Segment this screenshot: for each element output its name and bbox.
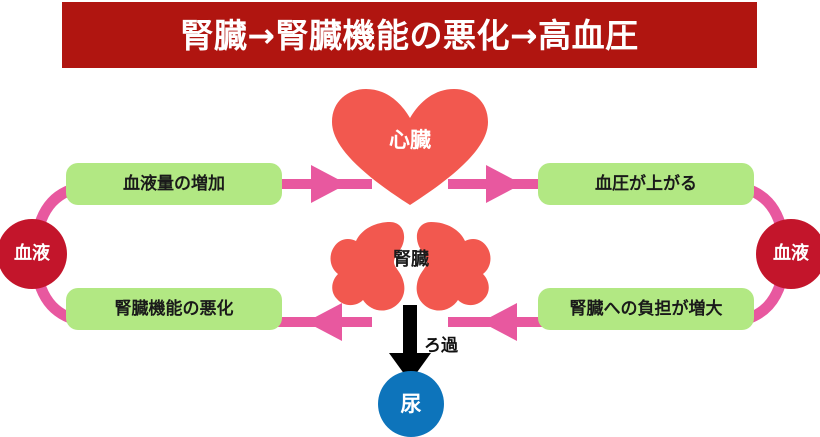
blood-node-right[interactable]: 血液 bbox=[756, 219, 820, 289]
arrowhead-left-bottom-left bbox=[306, 303, 342, 341]
cycle-box-label: 腎臓への負担が増大 bbox=[570, 301, 723, 318]
cycle-box-label: 腎臓機能の悪化 bbox=[115, 301, 234, 318]
cycle-box-blood-volume[interactable]: 血液量の増加 bbox=[66, 163, 282, 205]
urine-node-label: 尿 bbox=[401, 394, 422, 415]
blood-node-label: 血液 bbox=[773, 245, 809, 263]
kidney-icon bbox=[331, 222, 491, 311]
filtration-label: ろ過 bbox=[424, 338, 458, 355]
arrowhead-right-top-right bbox=[486, 165, 522, 203]
cycle-box-kidney-burden[interactable]: 腎臓への負担が増大 bbox=[538, 288, 754, 330]
urine-node[interactable]: 尿 bbox=[378, 371, 444, 437]
blood-node-label: 血液 bbox=[14, 245, 50, 263]
cycle-box-bp-rises[interactable]: 血圧が上がる bbox=[538, 163, 754, 205]
blood-node-left[interactable]: 血液 bbox=[0, 219, 67, 289]
cycle-box-label: 血圧が上がる bbox=[595, 176, 697, 193]
cycle-box-kidney-worse[interactable]: 腎臓機能の悪化 bbox=[66, 288, 282, 330]
arrowhead-left-bottom-right bbox=[481, 303, 517, 341]
arrowhead-right-top-left bbox=[311, 165, 347, 203]
cycle-box-label: 血液量の増加 bbox=[123, 176, 225, 193]
diagram-canvas: 腎臓→腎臓機能の悪化→高血圧 bbox=[0, 0, 820, 436]
